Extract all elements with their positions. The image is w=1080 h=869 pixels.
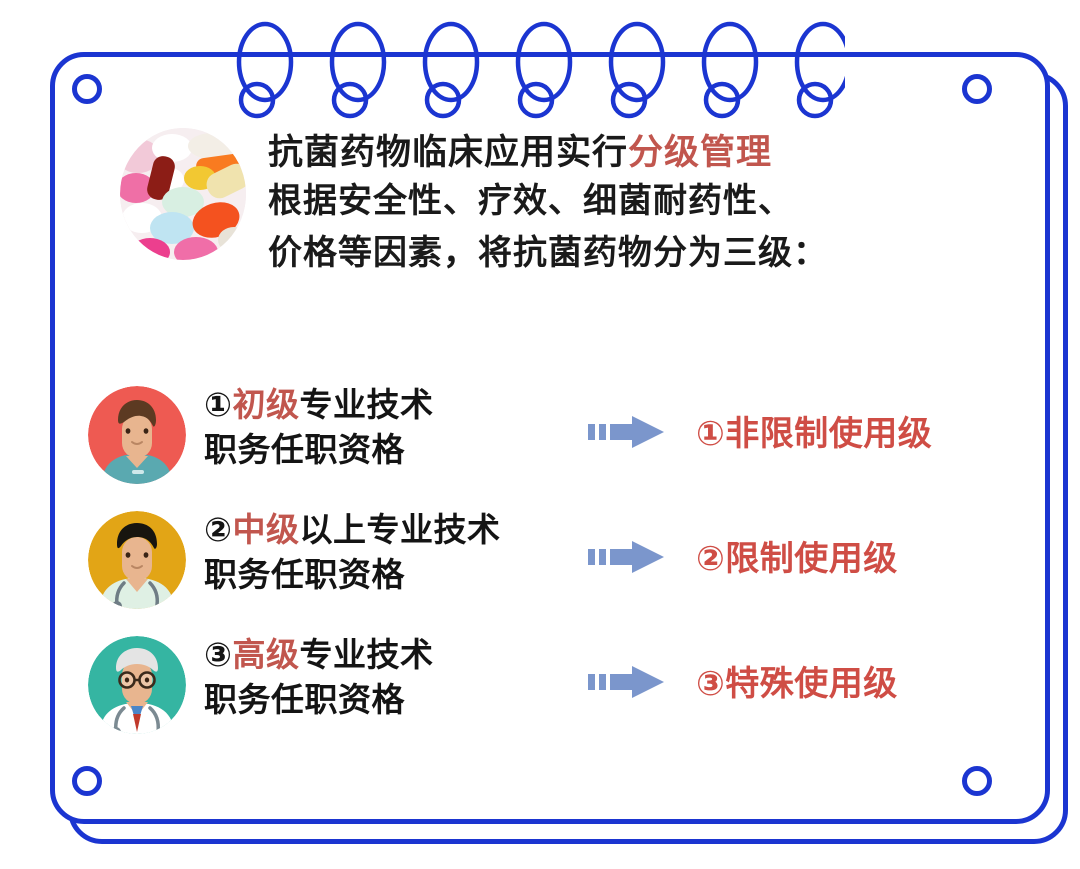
grade-list: ①初级专业技术 职务任职资格 ①非限制使用级 — [88, 382, 988, 770]
level-label: ②限制使用级 — [696, 507, 988, 580]
qualification-accent: 初级 — [232, 386, 299, 423]
page-title: 抗菌药物临床应用实行分级管理 — [268, 130, 960, 176]
grade-row: ①初级专业技术 职务任职资格 ①非限制使用级 — [88, 382, 988, 507]
qualification-rest: 专业技术 — [299, 386, 433, 423]
qualification-text: ①初级专业技术 职务任职资格 — [186, 382, 578, 474]
qualification-accent: 高级 — [232, 636, 299, 673]
title-prefix: 抗菌药物临床应用实行 — [268, 133, 628, 172]
qualification-line-2: 职务任职资格 — [204, 676, 578, 724]
arrow-right-icon — [578, 382, 696, 452]
qualification-number: ③ — [204, 636, 232, 673]
qualification-number: ② — [204, 511, 232, 548]
qualification-line-1: ①初级专业技术 — [204, 384, 578, 426]
header-text: 抗菌药物临床应用实行分级管理 根据安全性、疗效、细菌耐药性、 价格等因素，将抗菌… — [268, 122, 960, 280]
qualification-rest: 专业技术 — [299, 636, 433, 673]
qualification-text: ②中级以上专业技术 职务任职资格 — [186, 507, 578, 599]
qualification-line-1: ②中级以上专业技术 — [204, 509, 578, 551]
level-label: ③特殊使用级 — [696, 632, 988, 705]
qualification-line-1: ③高级专业技术 — [204, 634, 578, 676]
corner-ring-top-right — [962, 74, 992, 104]
qualification-rest: 以上专业技术 — [299, 511, 500, 548]
corner-ring-bottom-left — [72, 766, 102, 796]
subtitle-line-1: 根据安全性、疗效、细菌耐药性、 — [268, 176, 960, 228]
infographic-card: 抗菌药物临床应用实行分级管理 根据安全性、疗效、细菌耐药性、 价格等因素，将抗菌… — [0, 0, 1080, 869]
title-accent: 分级管理 — [628, 133, 772, 172]
subtitle-line-2: 价格等因素，将抗菌药物分为三级： — [268, 228, 960, 280]
arrow-right-icon — [578, 632, 696, 702]
grade-row: ②中级以上专业技术 职务任职资格 ②限制使用级 — [88, 507, 988, 632]
corner-ring-top-left — [72, 74, 102, 104]
corner-ring-bottom-right — [962, 766, 992, 796]
qualification-line-2: 职务任职资格 — [204, 551, 578, 599]
arrow-right-icon — [578, 507, 696, 577]
qualification-accent: 中级 — [232, 511, 299, 548]
qualification-number: ① — [204, 386, 232, 423]
qualification-line-2: 职务任职资格 — [204, 426, 578, 474]
pills-photo — [120, 128, 246, 260]
header-block: 抗菌药物临床应用实行分级管理 根据安全性、疗效、细菌耐药性、 价格等因素，将抗菌… — [120, 122, 960, 280]
nurse-red-avatar — [88, 386, 186, 484]
doctor-gold-avatar — [88, 511, 186, 609]
qualification-text: ③高级专业技术 职务任职资格 — [186, 632, 578, 724]
senior-doctor-teal-avatar — [88, 636, 186, 734]
level-label: ①非限制使用级 — [696, 382, 988, 455]
grade-row: ③高级专业技术 职务任职资格 ③特殊使用级 — [88, 632, 988, 764]
